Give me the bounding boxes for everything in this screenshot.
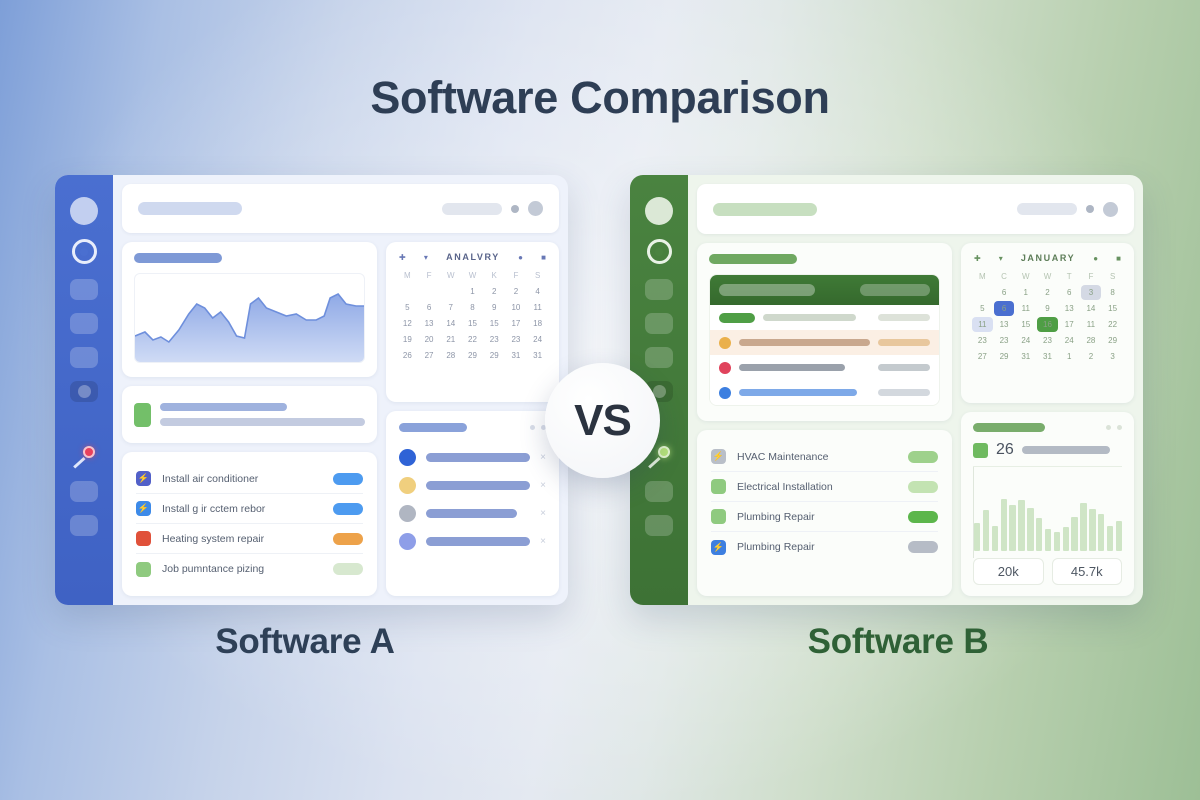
sidebar-a: [55, 175, 113, 605]
bar: [1071, 517, 1077, 552]
chevron-down-icon[interactable]: ▾: [999, 254, 1003, 263]
status-badge: [333, 503, 363, 515]
sidebar-item-reports[interactable]: [70, 347, 98, 368]
nav-dashboard-icon[interactable]: [72, 239, 97, 264]
nav-dashboard-icon[interactable]: [647, 239, 672, 264]
cell-label: [739, 389, 857, 396]
status-dot: [719, 362, 731, 374]
avatar[interactable]: [70, 197, 98, 225]
bar: [1107, 526, 1113, 552]
bar: [1018, 500, 1024, 551]
close-icon[interactable]: ×: [540, 508, 546, 519]
status-badge: [719, 313, 755, 323]
software-b-label: Software B: [648, 622, 1148, 662]
sidebar-item-extra-2[interactable]: [70, 515, 98, 536]
bar: [1080, 503, 1086, 551]
calendar-day[interactable]: 29: [994, 349, 1015, 364]
card-title: [399, 423, 467, 432]
table-row[interactable]: [710, 355, 939, 380]
calendar-day[interactable]: 13: [1059, 301, 1080, 316]
calendar-day[interactable]: 31: [527, 348, 548, 363]
status-badge: [333, 473, 363, 485]
calendar-day[interactable]: 6: [994, 301, 1015, 316]
calendar-day[interactable]: 15: [1015, 317, 1036, 332]
calendar-day[interactable]: 27: [419, 348, 440, 363]
avatar[interactable]: [645, 197, 673, 225]
area-chart: [134, 273, 365, 363]
notification-icon[interactable]: [1086, 205, 1094, 213]
kpi-indicator: [973, 443, 988, 458]
task-type-icon: ⚡: [711, 540, 726, 555]
sidebar-item-jobs[interactable]: [70, 279, 98, 300]
calendar-day[interactable]: 15: [1102, 301, 1123, 316]
calendar-day[interactable]: 3: [1081, 285, 1102, 300]
close-icon[interactable]: ×: [540, 536, 546, 547]
action-pill[interactable]: [442, 203, 502, 215]
calendar-b: ✚ ▾ JANUARY ● ■ MCWWTFS 6126385611913141…: [961, 243, 1134, 403]
calendar-day[interactable]: 29: [484, 348, 505, 363]
software-a-window: ⚡ Install air conditioner ⚡ Install g ir…: [55, 175, 568, 605]
task-label: HVAC Maintenance: [737, 451, 897, 463]
calendar-a: ✚ ▾ ANALVRY ● ■ MFWWKFS 1224567891011121…: [386, 242, 559, 402]
calendar-day[interactable]: 28: [1081, 333, 1102, 348]
status-dot: [719, 337, 731, 349]
table-row[interactable]: ⚡ Install g ir cctem rebor: [136, 494, 363, 524]
page-title: Software Comparison: [0, 72, 1200, 124]
calendar-day: [972, 285, 993, 300]
task-list-a: ⚡ Install air conditioner ⚡ Install g ir…: [122, 452, 377, 596]
cell-label: [763, 314, 856, 321]
calendar-day[interactable]: 17: [506, 316, 527, 331]
card-title: [973, 423, 1045, 432]
calendar-day[interactable]: 1: [462, 284, 483, 299]
task-label: Electrical Installation: [737, 481, 897, 493]
calendar-day[interactable]: 1: [1059, 349, 1080, 364]
sidebar-item-extra-2[interactable]: [645, 515, 673, 536]
calendar-day[interactable]: 26: [397, 348, 418, 363]
calendar-day: [419, 284, 440, 299]
task-type-icon: [711, 509, 726, 524]
status-badge: [333, 563, 363, 575]
calendar-day[interactable]: 11: [1015, 301, 1036, 316]
table-row[interactable]: Electrical Installation: [711, 472, 938, 502]
list-item[interactable]: ×: [399, 443, 546, 471]
stat-box: 20k: [973, 558, 1044, 585]
search-input[interactable]: [138, 202, 242, 215]
calendar-day[interactable]: 14: [1081, 301, 1102, 316]
bar: [992, 526, 998, 552]
calendar-month-label: JANUARY: [1021, 253, 1075, 263]
calendar-month-label: ANALVRY: [446, 252, 500, 262]
bar: [1063, 527, 1069, 551]
card-title: [709, 254, 797, 264]
calendar-day[interactable]: 7: [440, 300, 461, 315]
task-list-b: ⚡ HVAC Maintenance Electrical Installati…: [697, 430, 952, 596]
status-dot: [719, 387, 731, 399]
calendar-weekday: W: [1015, 270, 1036, 285]
calendar-day: [440, 284, 461, 299]
task-label: Job pumntance pizing: [162, 563, 322, 575]
jobs-table-card: [697, 243, 952, 421]
calendar-day[interactable]: 15: [462, 316, 483, 331]
cell-label: [739, 339, 870, 346]
status-badge: [333, 533, 363, 545]
calendar-weekday: K: [484, 269, 505, 284]
status-badge: [908, 481, 938, 493]
calendar-day[interactable]: 23: [484, 332, 505, 347]
calendar-day[interactable]: 23: [972, 333, 993, 348]
calendar-day[interactable]: 31: [1015, 349, 1036, 364]
cell-value: [878, 314, 930, 321]
bar: [1116, 521, 1122, 551]
task-type-icon: [136, 531, 151, 546]
sidebar-item-schedule[interactable]: [645, 313, 673, 334]
calendar-day[interactable]: 10: [506, 300, 527, 315]
item-label: [426, 509, 517, 518]
task-label: Plumbing Repair: [737, 511, 897, 523]
calendar-day[interactable]: 5: [397, 300, 418, 315]
task-label: Install air conditioner: [162, 473, 322, 485]
close-icon[interactable]: ×: [540, 480, 546, 491]
vs-badge: VS: [545, 363, 660, 478]
summary-card: [122, 386, 377, 443]
calendar-day[interactable]: 2: [484, 284, 505, 299]
task-type-icon: [711, 479, 726, 494]
calendar-day: [397, 284, 418, 299]
calendar-add-icon[interactable]: ✚: [399, 253, 406, 262]
summary-line-secondary: [160, 418, 365, 426]
calendar-day[interactable]: 20: [419, 332, 440, 347]
bar-chart: [973, 467, 1122, 558]
calendar-day[interactable]: 21: [440, 332, 461, 347]
chevron-down-icon[interactable]: ▾: [424, 253, 428, 262]
bar: [1009, 505, 1015, 552]
calendar-weekday: W: [1037, 270, 1058, 285]
calendar-day[interactable]: 13: [419, 316, 440, 331]
calendar-weekday: S: [1102, 270, 1123, 285]
table-row[interactable]: [710, 330, 939, 355]
calendar-weekday-row: MCWWTFS: [972, 270, 1123, 285]
bar: [1001, 499, 1007, 552]
card-title: [134, 253, 222, 263]
calendar-add-icon[interactable]: ✚: [974, 254, 981, 263]
close-icon[interactable]: ×: [540, 452, 546, 463]
status-dot: [399, 505, 416, 522]
status-badge: [908, 511, 938, 523]
calendar-weekday: F: [1081, 270, 1102, 285]
status-indicator: [134, 403, 151, 427]
calendar-filter-icon[interactable]: ●: [1093, 254, 1098, 263]
calendar-day[interactable]: 11: [527, 300, 548, 315]
bar: [1045, 529, 1051, 552]
calendar-day[interactable]: 6: [419, 300, 440, 315]
calendar-day[interactable]: 31: [1037, 349, 1058, 364]
calendar-weekday-row: MFWWKFS: [397, 269, 548, 284]
calendar-day[interactable]: 29: [462, 348, 483, 363]
list-item[interactable]: ×: [399, 527, 546, 555]
software-a-label: Software A: [55, 622, 555, 662]
account-avatar[interactable]: [528, 201, 543, 216]
card-menu-icon[interactable]: [1106, 425, 1122, 430]
calendar-day[interactable]: 14: [440, 316, 461, 331]
software-b-window: ⚡ HVAC Maintenance Electrical Installati…: [630, 175, 1143, 605]
cell-value: [878, 389, 930, 396]
sidebar-item-reports[interactable]: [645, 347, 673, 368]
calendar-day[interactable]: 4: [527, 284, 548, 299]
bar: [974, 523, 980, 552]
calendar-day[interactable]: 13: [994, 317, 1015, 332]
map-pin-icon: [71, 445, 97, 471]
table-row[interactable]: ⚡ Install air conditioner: [136, 464, 363, 494]
calendar-day[interactable]: 22: [462, 332, 483, 347]
bar: [1089, 509, 1095, 551]
calendar-day[interactable]: 8: [462, 300, 483, 315]
sidebar-item-settings[interactable]: [70, 381, 98, 402]
calendar-day[interactable]: 9: [484, 300, 505, 315]
calendar-day[interactable]: 11: [1081, 317, 1102, 332]
status-dot: [399, 477, 416, 494]
status-dot: [399, 533, 416, 550]
item-label: [426, 537, 530, 546]
comparison-graphic: Software Comparison: [0, 0, 1200, 800]
item-label: [426, 453, 530, 462]
calendar-day[interactable]: 3: [1102, 349, 1123, 364]
cell-label: [739, 364, 845, 371]
topbar-a: [122, 184, 559, 233]
stats-card: 26 20k 45.7k: [961, 412, 1134, 596]
calendar-day[interactable]: 5: [972, 301, 993, 316]
calendar-weekday: W: [440, 269, 461, 284]
calendar-days-grid[interactable]: 1224567891011121314151517181920212223232…: [397, 284, 548, 363]
cell-value: [878, 339, 930, 346]
item-label: [426, 481, 530, 490]
sidebar-item-jobs[interactable]: [645, 279, 673, 300]
table-row[interactable]: Job pumntance pizing: [136, 554, 363, 584]
task-label: Install g ir cctem rebor: [162, 503, 322, 515]
calendar-weekday: F: [419, 269, 440, 284]
list-item[interactable]: ×: [399, 499, 546, 527]
calendar-day[interactable]: 17: [1059, 317, 1080, 332]
status-badge: [908, 451, 938, 463]
calendar-day[interactable]: 11: [972, 317, 993, 332]
column-header-name: [719, 284, 815, 296]
stat-box: 45.7k: [1052, 558, 1123, 585]
calendar-days-grid[interactable]: 6126385611913141511131516171122232324232…: [972, 285, 1123, 364]
calendar-day[interactable]: 31: [506, 348, 527, 363]
status-badge: [908, 541, 938, 553]
bar: [983, 510, 989, 551]
calendar-weekday: C: [994, 270, 1015, 285]
calendar-day[interactable]: 19: [397, 332, 418, 347]
task-type-icon: ⚡: [136, 501, 151, 516]
calendar-day[interactable]: 16: [1037, 317, 1058, 332]
calendar-weekday: W: [462, 269, 483, 284]
bar: [1027, 508, 1033, 552]
table-row[interactable]: ⚡ HVAC Maintenance: [711, 442, 938, 472]
calendar-day[interactable]: 28: [440, 348, 461, 363]
table-row[interactable]: Heating system repair: [136, 524, 363, 554]
table-row[interactable]: [710, 380, 939, 405]
list-item[interactable]: ×: [399, 471, 546, 499]
calendar-day[interactable]: 2: [1081, 349, 1102, 364]
calendar-filter-icon[interactable]: ●: [518, 253, 523, 262]
calendar-day[interactable]: 12: [397, 316, 418, 331]
calendar-day[interactable]: 23: [994, 333, 1015, 348]
cell-value: [878, 364, 930, 371]
account-avatar[interactable]: [1103, 202, 1118, 217]
task-label: Heating system repair: [162, 533, 322, 545]
bar: [1036, 518, 1042, 551]
table-row[interactable]: [710, 305, 939, 330]
bar: [1054, 532, 1060, 552]
task-label: Plumbing Repair: [737, 541, 897, 553]
calendar-day[interactable]: 23: [506, 332, 527, 347]
sidebar-item-extra-1[interactable]: [645, 481, 673, 502]
bar: [1098, 514, 1104, 552]
calendar-day[interactable]: 29: [1102, 333, 1123, 348]
table-row[interactable]: Plumbing Repair: [711, 502, 938, 532]
notification-icon[interactable]: [511, 205, 519, 213]
calendar-day[interactable]: 15: [484, 316, 505, 331]
kpi-value: 26: [996, 441, 1014, 459]
task-type-icon: ⚡: [711, 449, 726, 464]
calendar-day[interactable]: 18: [527, 316, 548, 331]
calendar-day[interactable]: 23: [1037, 333, 1058, 348]
calendar-weekday: F: [506, 269, 527, 284]
topbar-b: [697, 184, 1134, 234]
calendar-day[interactable]: 24: [1015, 333, 1036, 348]
table-row[interactable]: ⚡ Plumbing Repair: [711, 532, 938, 562]
calendar-weekday: M: [397, 269, 418, 284]
calendar-day[interactable]: 9: [1037, 301, 1058, 316]
sidebar-item-extra-1[interactable]: [70, 481, 98, 502]
calendar-weekday: M: [972, 270, 993, 285]
calendar-weekday: T: [1059, 270, 1080, 285]
search-input[interactable]: [713, 203, 817, 216]
calendar-day[interactable]: 24: [527, 332, 548, 347]
calendar-day[interactable]: 2: [506, 284, 527, 299]
card-menu-icon[interactable]: [530, 425, 546, 430]
calendar-day[interactable]: 2: [1037, 285, 1058, 300]
column-header-status: [860, 284, 930, 296]
calendar-day[interactable]: 6: [994, 285, 1015, 300]
action-pill[interactable]: [1017, 203, 1077, 215]
calendar-day[interactable]: 22: [1102, 317, 1123, 332]
calendar-day[interactable]: 1: [1015, 285, 1036, 300]
analytics-chart-card: [122, 242, 377, 377]
calendar-day[interactable]: 8: [1102, 285, 1123, 300]
status-dot: [399, 449, 416, 466]
activity-list-a: × × ×: [386, 411, 559, 596]
task-type-icon: [136, 562, 151, 577]
task-type-icon: ⚡: [136, 471, 151, 486]
calendar-menu-icon[interactable]: ■: [541, 253, 546, 262]
summary-line-primary: [160, 403, 287, 411]
calendar-day[interactable]: 6: [1059, 285, 1080, 300]
calendar-day[interactable]: 24: [1059, 333, 1080, 348]
calendar-weekday: S: [527, 269, 548, 284]
calendar-day[interactable]: 27: [972, 349, 993, 364]
sidebar-item-schedule[interactable]: [70, 313, 98, 334]
calendar-menu-icon[interactable]: ■: [1116, 254, 1121, 263]
kpi-label: [1022, 446, 1110, 454]
table-header: [710, 275, 939, 305]
